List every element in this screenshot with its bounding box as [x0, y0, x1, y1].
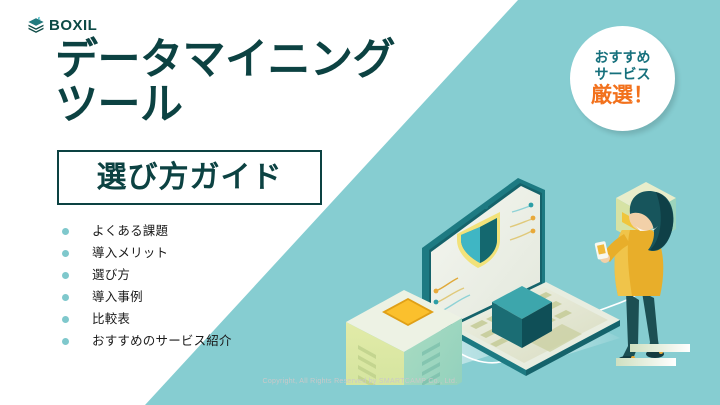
slide-canvas: BOXIL データマイニング ツール 選び方ガイド よくある課題 導入メリット …: [0, 0, 720, 405]
bullet-dot-icon: [62, 250, 69, 257]
guide-box-label: 選び方ガイド: [97, 163, 283, 193]
list-item: おすすめのサービス紹介: [62, 330, 232, 352]
hero-illustration: [330, 130, 720, 385]
copyright-text: Copyright, All Rights Reserved by SMARTC…: [0, 378, 720, 385]
list-item: 選び方: [62, 264, 232, 286]
list-item: 導入メリット: [62, 242, 232, 264]
page-title: データマイニング ツール: [55, 38, 395, 128]
list-item-label: 選び方: [92, 269, 130, 282]
bullet-dot-icon: [62, 228, 69, 235]
badge-line-3: 厳選！: [591, 84, 654, 107]
list-item-label: おすすめのサービス紹介: [92, 335, 232, 348]
list-item-label: 比較表: [92, 313, 130, 326]
badge-line-1: おすすめ: [595, 50, 651, 66]
bullet-dot-icon: [62, 338, 69, 345]
list-item: 導入事例: [62, 286, 232, 308]
list-item-label: よくある課題: [92, 225, 168, 238]
list-item: 比較表: [62, 308, 232, 330]
bullet-dot-icon: [62, 294, 69, 301]
logo-wordmark: BOXIL: [49, 18, 97, 33]
stacked-layers-icon: [27, 16, 45, 34]
bullet-dot-icon: [62, 272, 69, 279]
guide-box: 選び方ガイド: [57, 150, 322, 205]
boxil-logo[interactable]: BOXIL: [27, 16, 97, 34]
bullet-dot-icon: [62, 316, 69, 323]
list-item-label: 導入メリット: [92, 247, 168, 260]
list-item-label: 導入事例: [92, 291, 143, 304]
agenda-list: よくある課題 導入メリット 選び方 導入事例 比較表 おすすめのサービス紹介: [62, 220, 232, 352]
badge-text-group: おすすめ サービス 厳選！: [570, 26, 675, 131]
badge-line-2: サービス: [595, 67, 651, 83]
list-item: よくある課題: [62, 220, 232, 242]
status-badge: おすすめ サービス 厳選！: [570, 26, 675, 131]
